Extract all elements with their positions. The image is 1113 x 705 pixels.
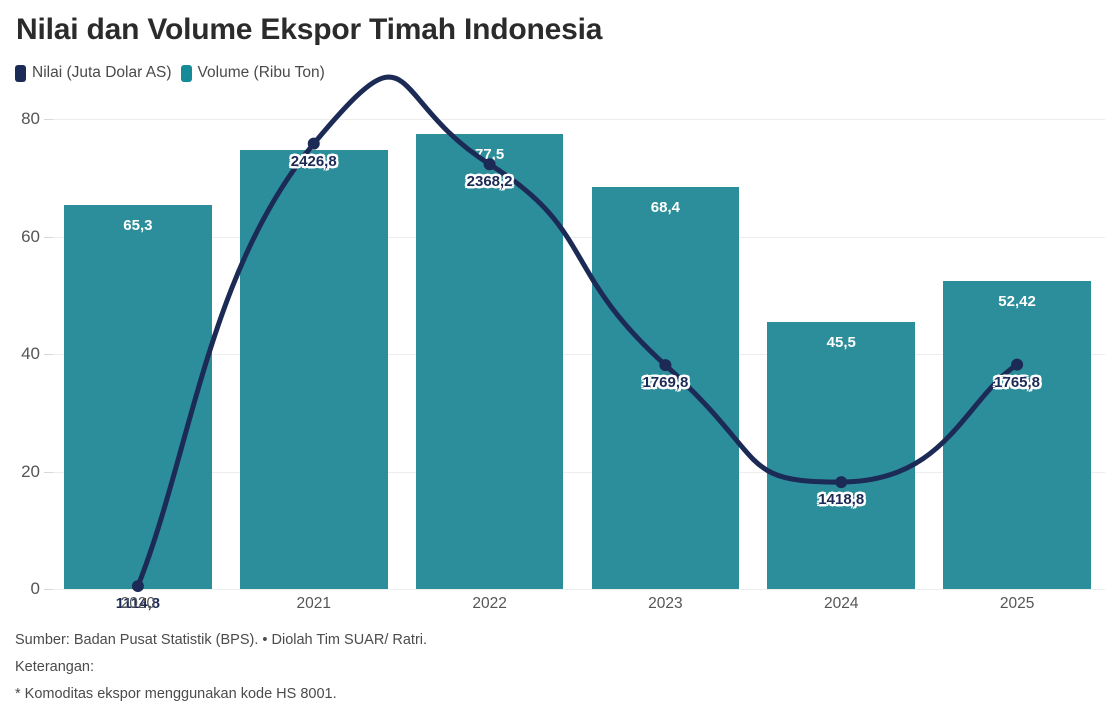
y-tick-mark (44, 119, 53, 120)
y-tick-mark (44, 589, 53, 590)
line-value-label: 1765,8 (994, 374, 1040, 391)
y-tick-label: 40 (0, 344, 40, 364)
x-tick-label: 2025 (1000, 595, 1034, 613)
line-value-label: 2368,2 (467, 173, 513, 190)
bar[interactable] (767, 322, 915, 589)
x-tick-label: 2023 (648, 595, 682, 613)
y-tick-label: 20 (0, 462, 40, 482)
bar[interactable] (64, 205, 212, 589)
y-tick-label: 0 (0, 579, 40, 599)
y-tick-mark (44, 472, 53, 473)
x-tick-label: 2024 (824, 595, 858, 613)
x-tick-label: 2021 (297, 595, 331, 613)
bar-value-label: 68,4 (651, 199, 680, 216)
bar-value-label: 52,42 (998, 293, 1036, 310)
bar-value-label: 65,3 (123, 217, 152, 234)
bar-value-label: 45,5 (827, 334, 856, 351)
y-tick-label: 60 (0, 227, 40, 247)
footer-note: * Komoditas ekspor menggunakan kode HS 8… (15, 686, 337, 702)
bar[interactable] (416, 134, 564, 589)
y-tick-mark (44, 354, 53, 355)
line-value-label: 1418,8 (818, 491, 864, 508)
y-tick-label: 80 (0, 109, 40, 129)
chart-container: Nilai dan Volume Ekspor Timah Indonesia … (0, 0, 1113, 705)
y-tick-mark (44, 237, 53, 238)
gridline (50, 119, 1105, 120)
bar[interactable] (240, 150, 388, 589)
line-value-label: 2426,8 (291, 153, 337, 170)
line-data-point[interactable] (308, 138, 320, 150)
footer-source: Sumber: Badan Pusat Statistik (BPS). • D… (15, 632, 427, 648)
line-value-label: 1769,8 (642, 374, 688, 391)
bar[interactable] (943, 281, 1091, 589)
bar-value-label: 77,5 (475, 146, 504, 163)
plot-area: 020406080 65,377,568,445,552,42 1114,824… (0, 0, 1113, 705)
footer-keterangan: Keterangan: (15, 659, 94, 675)
x-tick-label: 2022 (472, 595, 506, 613)
x-tick-label: 2020 (121, 595, 155, 613)
gridline (50, 589, 1105, 590)
